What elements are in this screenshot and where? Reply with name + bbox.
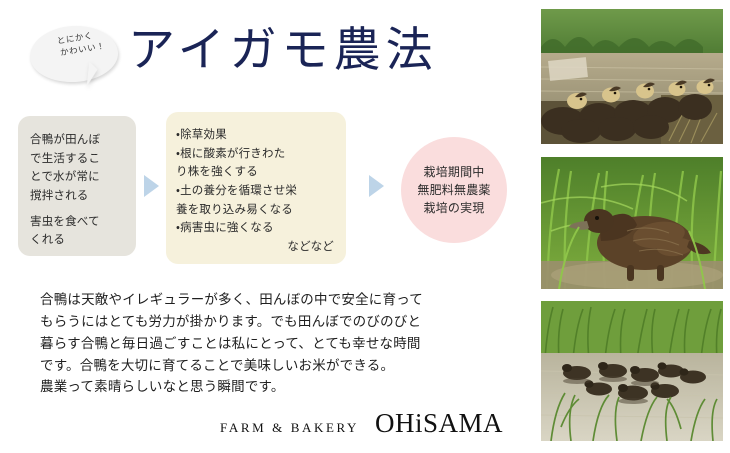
flow-step-effects-box: ・除草効果 ・根に酸素が行きわた り株を強くする ・土の養分を循環させ栄 養を取… (166, 112, 346, 264)
arrow-right-icon-2 (369, 175, 384, 197)
mid-box-etc-label: などなど (176, 237, 338, 256)
adult-duck-in-rice-photo (541, 157, 723, 289)
circle-line: 栽培の実現 (423, 199, 484, 217)
ducklings-by-water-photo (541, 9, 723, 144)
brand-lockup: FARM & BAKERY OHiSAMA (220, 408, 503, 439)
arrow-right-icon-1 (144, 175, 159, 197)
left-box-line: くれる (30, 230, 126, 249)
mid-box-line: ・除草効果 (176, 125, 338, 144)
brand-subtitle: FARM & BAKERY (220, 420, 359, 436)
circle-line: 栽培期間中 (423, 163, 484, 181)
brand-name: OHiSAMA (375, 408, 503, 439)
circle-line: 無肥料無農薬 (417, 181, 490, 199)
mid-box-line: り株を強くする (176, 162, 338, 181)
flow-step-cause-box: 合鴨が田んぼ で生活するこ とで水が常に 撹拌される 害虫を食べて くれる (18, 116, 136, 256)
mid-box-line: ・病害虫に強くなる (176, 218, 338, 237)
paragraph-line: 農業って素晴らしいなと思う瞬間です。 (40, 377, 510, 399)
mid-box-line: ・土の養分を循環させ栄 (176, 181, 338, 200)
left-box-line: とで水が常に (30, 167, 126, 186)
ducklings-photo-art (541, 9, 723, 144)
ducks-swimming-paddy-photo (541, 301, 723, 441)
body-paragraph: 合鴨は天敵やイレギュラーが多く、田んぼの中で安全に育って もらうにはとても労力が… (40, 290, 510, 399)
flow-result-circle: 栽培期間中 無肥料無農薬 栽培の実現 (401, 137, 507, 243)
left-box-line: 害虫を食べて (30, 212, 126, 231)
left-box-line: 合鴨が田んぼ (30, 130, 126, 149)
paragraph-line: 合鴨は天敵やイレギュラーが多く、田んぼの中で安全に育って (40, 290, 510, 312)
mid-box-line: 養を取り込み易くなる (176, 200, 338, 219)
ducks-paddy-photo-art (541, 301, 723, 441)
mid-box-line: ・根に酸素が行きわた (176, 144, 338, 163)
left-box-line: で生活するこ (30, 149, 126, 168)
speech-bubble-tail-icon (87, 62, 99, 88)
duck-in-rice-photo-art (541, 157, 723, 289)
left-box-line: 撹拌される (30, 186, 126, 205)
paragraph-line: です。合鴨を大切に育てることで美味しいお米ができる。 (40, 356, 510, 378)
paragraph-line: 暮らす合鴨と毎日過ごすことは私にとって、とても幸せな時間 (40, 334, 510, 356)
paragraph-line: もらうにはとても労力が掛かります。でも田んぼでのびのびと (40, 312, 510, 334)
page-title: アイガモ農法 (128, 27, 438, 74)
poster-root: とにかく かわいい！ アイガモ農法 合鴨が田んぼ で生活するこ とで水が常に 撹… (0, 0, 730, 453)
